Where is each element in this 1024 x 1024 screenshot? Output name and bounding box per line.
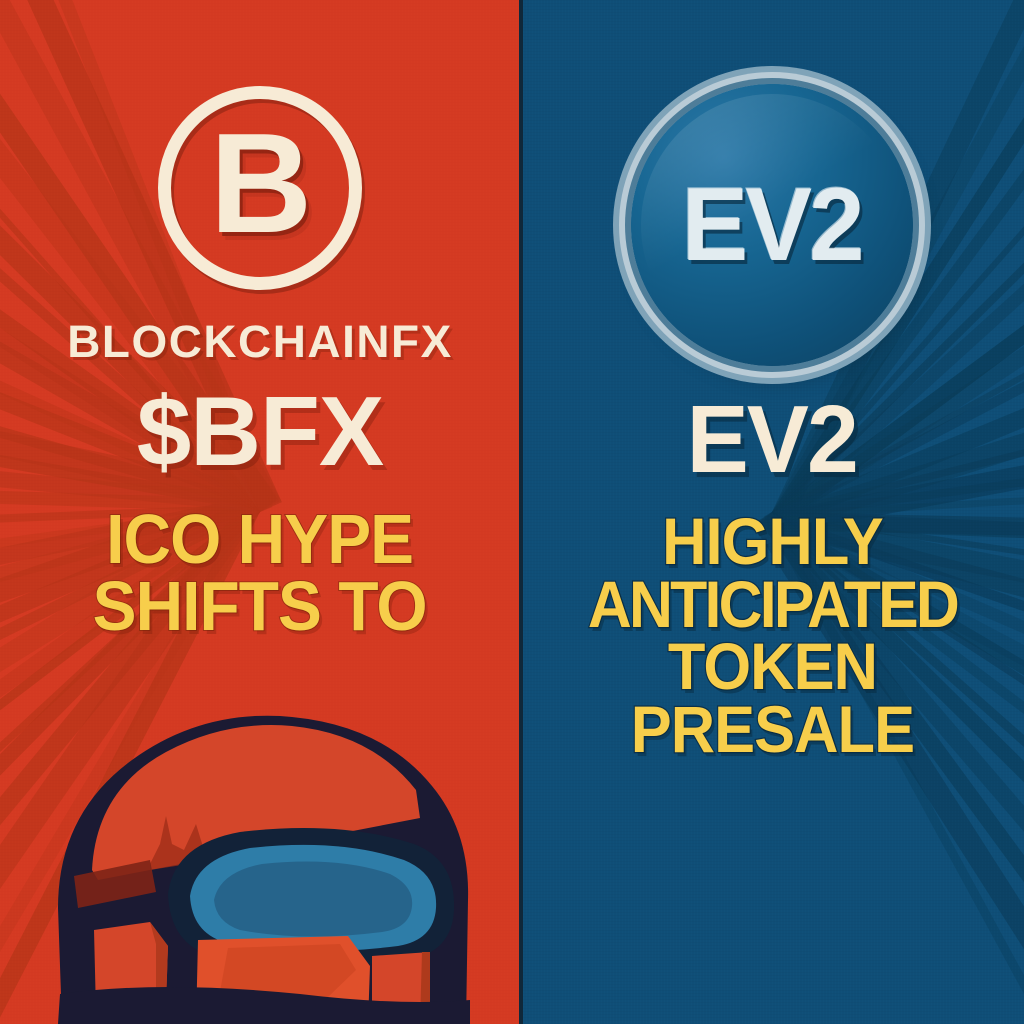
right-tagline-line-2: ANTICIPATED bbox=[587, 573, 956, 636]
bfx-circle-b-logo: B bbox=[158, 86, 362, 290]
ticker-symbol-bfx: $BFX bbox=[137, 382, 384, 480]
bfx-logo-letter: B bbox=[210, 113, 311, 255]
left-tagline-line-2: SHIFTS TO bbox=[93, 573, 427, 640]
ev2-title: EV2 bbox=[687, 392, 857, 488]
left-tagline: ICO HYPE SHIFTS TO bbox=[93, 506, 427, 639]
right-tagline-line-4: PRESALE bbox=[586, 698, 959, 761]
ev2-metallic-coin-logo: EV2 bbox=[631, 84, 913, 366]
right-tagline: HIGHLY ANTICIPATED TOKEN PRESALE bbox=[586, 510, 959, 761]
promo-poster: B BLOCKCHAINFX $BFX ICO HYPE SHIFTS TO bbox=[0, 0, 1024, 1024]
right-tagline-line-3: TOKEN bbox=[586, 635, 959, 698]
left-panel-blockchainfx: B BLOCKCHAINFX $BFX ICO HYPE SHIFTS TO bbox=[0, 0, 520, 1024]
futuristic-helmet-visor-illustration bbox=[0, 694, 520, 1024]
panel-divider bbox=[519, 0, 523, 1024]
right-tagline-line-1: HIGHLY bbox=[586, 510, 959, 573]
left-tagline-line-1: ICO HYPE bbox=[93, 506, 427, 573]
right-panel-ev2: EV2 EV2 HIGHLY ANTICIPATED TOKEN PRESALE bbox=[520, 0, 1024, 1024]
brand-name-blockchainfx: BLOCKCHAINFX bbox=[67, 316, 453, 368]
visor-glass-highlight bbox=[214, 862, 412, 937]
ev2-coin-letters: EV2 bbox=[682, 173, 862, 277]
